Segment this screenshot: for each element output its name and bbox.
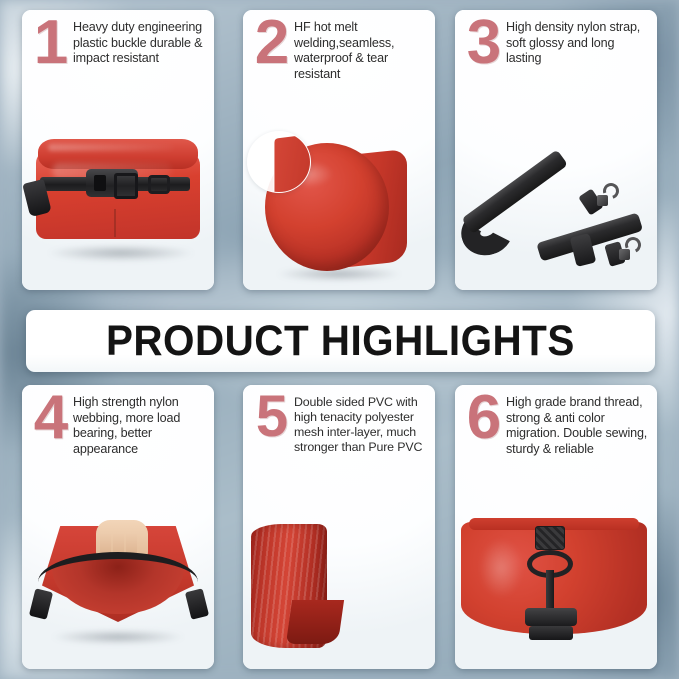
card-header: 6 High grade brand thread, strong & anti… xyxy=(455,385,657,457)
feature-card-5: 5 Double sided PVC with high tenacity po… xyxy=(243,385,435,669)
card-inner: 6 High grade brand thread, strong & anti… xyxy=(455,385,657,669)
product-photo-dry-bag xyxy=(22,125,214,290)
swivel-hook-bottom-base xyxy=(619,249,630,260)
card-header: 3 High density nylon strap, soft glossy … xyxy=(455,10,657,69)
product-photo-pvc-mesh xyxy=(243,504,435,669)
photo-shadow xyxy=(48,245,194,261)
bag-seam xyxy=(114,209,116,237)
buckle-lower xyxy=(529,626,573,640)
strap-assembly xyxy=(455,125,657,290)
product-photo-webbing-load xyxy=(22,504,214,669)
buckle-upper xyxy=(525,608,577,626)
feature-number-3: 3 xyxy=(462,18,506,69)
feature-text-3: High density nylon strap, soft glossy an… xyxy=(506,16,649,67)
card-inner: 5 Double sided PVC with high tenacity po… xyxy=(243,385,435,669)
weld-detail xyxy=(274,133,311,193)
banner-title: PRODUCT HIGHLIGHTS xyxy=(106,317,575,366)
strap-band-left xyxy=(461,149,568,234)
card-header: 2 HF hot melt welding,seamless, waterpro… xyxy=(243,10,435,82)
swivel-hook-top-base xyxy=(597,195,608,206)
feature-text-2: HF hot melt welding,seamless, waterproof… xyxy=(294,16,427,82)
product-photo-welded-seam xyxy=(243,125,435,290)
feature-text-6: High grade brand thread, strong & anti c… xyxy=(506,391,649,457)
feature-number-2: 2 xyxy=(250,18,294,69)
polyester-mesh-swatch xyxy=(329,530,428,645)
feature-card-1: 1 Heavy duty engineering plastic buckle … xyxy=(22,10,214,290)
feature-number-5: 5 xyxy=(250,393,294,441)
card-header: 5 Double sided PVC with high tenacity po… xyxy=(243,385,435,455)
feature-text-5: Double sided PVC with high tenacity poly… xyxy=(294,391,427,455)
product-highlights-banner: PRODUCT HIGHLIGHTS xyxy=(26,310,655,372)
card-header: 4 High strength nylon webbing, more load… xyxy=(22,385,214,457)
pvc-sheet-fold xyxy=(286,600,344,644)
card-inner: 4 High strength nylon webbing, more load… xyxy=(22,385,214,669)
card-inner: 3 High density nylon strap, soft glossy … xyxy=(455,10,657,290)
feature-card-6: 6 High grade brand thread, strong & anti… xyxy=(455,385,657,669)
side-clip-right xyxy=(185,588,209,620)
magnifier-circle xyxy=(247,131,311,193)
feature-card-3: 3 High density nylon strap, soft glossy … xyxy=(455,10,657,290)
bag-highlight xyxy=(479,538,523,598)
feature-card-4: 4 High strength nylon webbing, more load… xyxy=(22,385,214,669)
plastic-buckle xyxy=(86,169,138,197)
card-header: 1 Heavy duty engineering plastic buckle … xyxy=(22,10,214,69)
feature-text-1: Heavy duty engineering plastic buckle du… xyxy=(73,16,206,67)
weld-seam-line xyxy=(273,134,275,193)
product-photo-stitching xyxy=(455,504,657,669)
bag-d-ring xyxy=(148,175,170,194)
photo-shadow xyxy=(52,630,184,644)
feature-number-4: 4 xyxy=(29,393,73,444)
product-highlights-infographic: 1 Heavy duty engineering plastic buckle … xyxy=(0,0,679,679)
side-clip-left xyxy=(29,588,53,620)
product-photo-shoulder-strap xyxy=(455,125,657,290)
feature-card-2: 2 HF hot melt welding,seamless, waterpro… xyxy=(243,10,435,290)
stitched-patch xyxy=(535,526,565,550)
feature-text-4: High strength nylon webbing, more load b… xyxy=(73,391,206,457)
card-inner: 2 HF hot melt welding,seamless, waterpro… xyxy=(243,10,435,290)
feature-number-1: 1 xyxy=(29,18,73,69)
feature-number-6: 6 xyxy=(462,393,506,444)
card-inner: 1 Heavy duty engineering plastic buckle … xyxy=(22,10,214,290)
